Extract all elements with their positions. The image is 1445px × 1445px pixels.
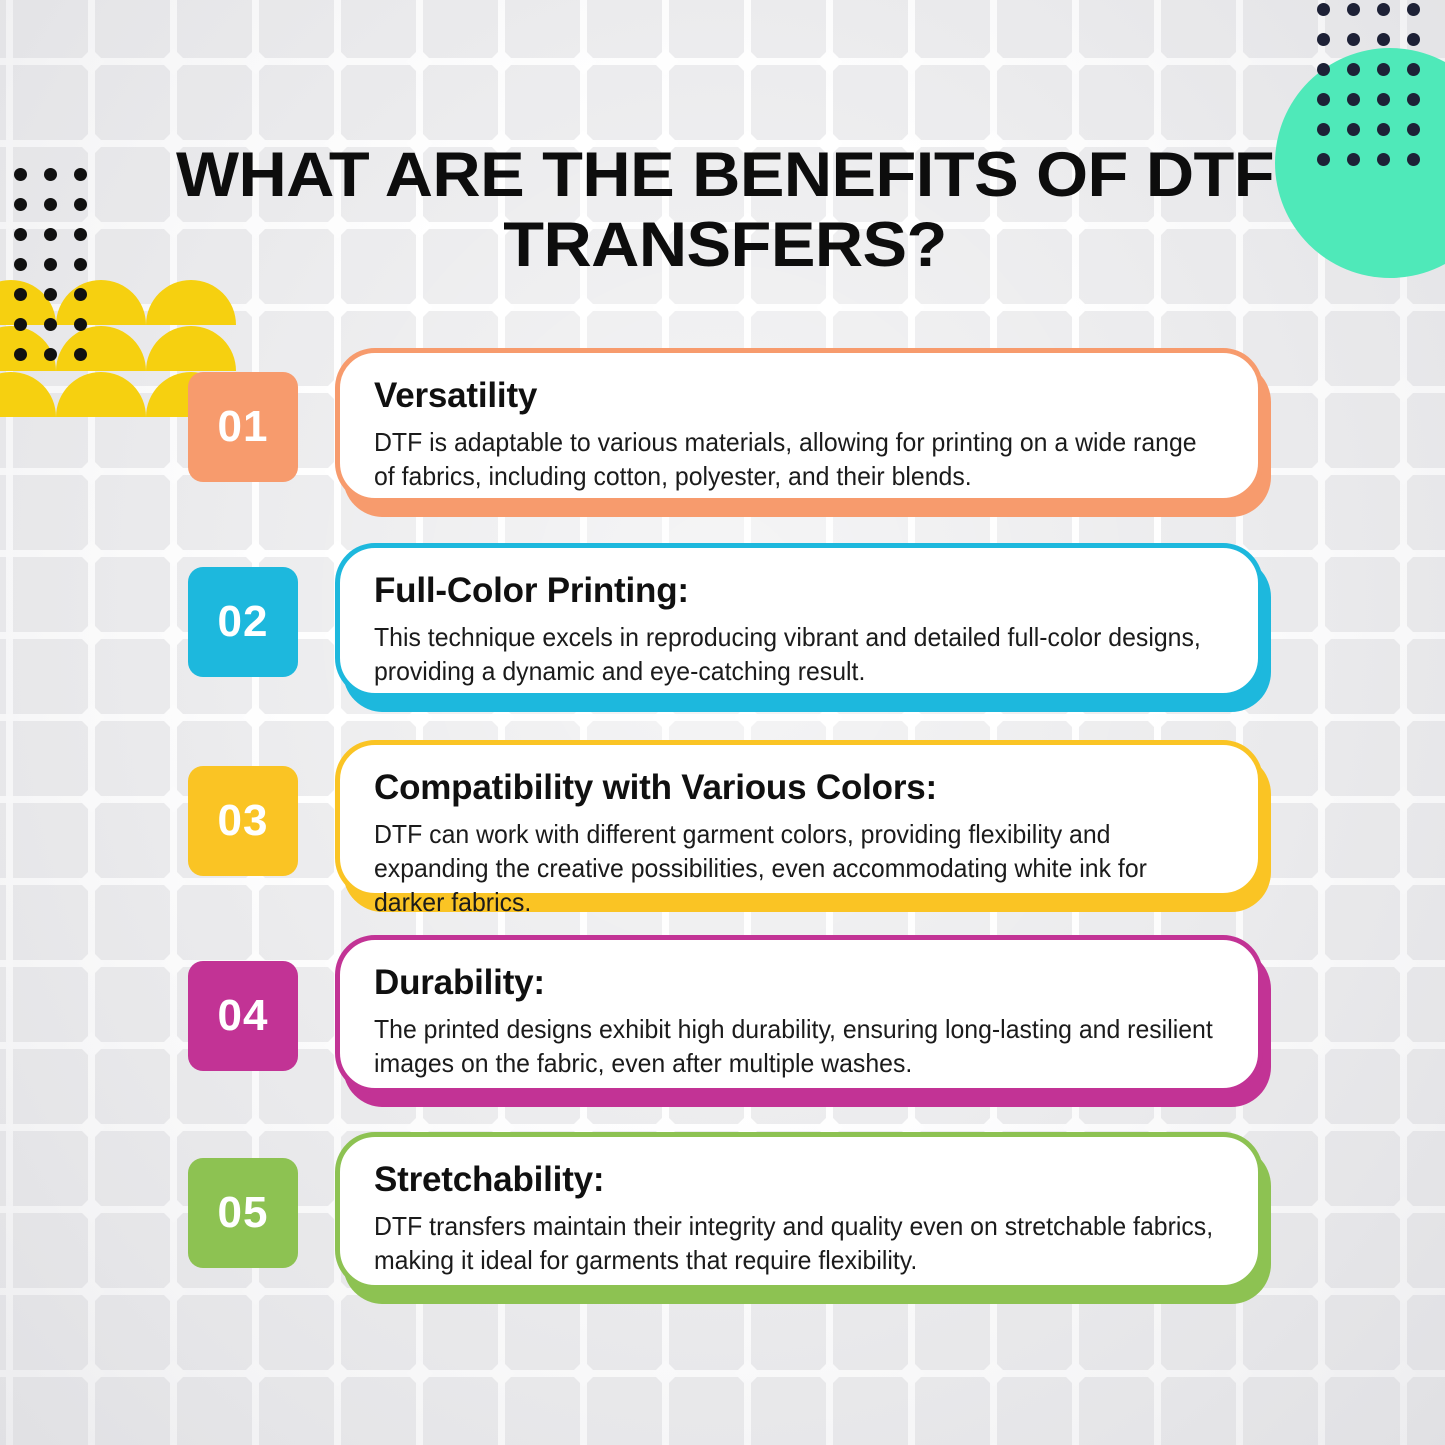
benefit-description: DTF is adaptable to various materials, a… [374, 425, 1224, 493]
benefit-number: 03 [218, 796, 269, 846]
decorative-dot [1347, 153, 1360, 166]
benefit-number: 02 [218, 597, 269, 647]
benefit-description: DTF transfers maintain their integrity a… [374, 1209, 1224, 1277]
decorative-dot [1377, 63, 1390, 76]
decorative-dot [74, 288, 87, 301]
benefit-card-wrapper: VersatilityDTF is adaptable to various m… [335, 348, 1263, 503]
benefit-title: Stretchability: [374, 1159, 1224, 1201]
benefit-number: 04 [218, 991, 269, 1041]
dot-grid-left [14, 168, 104, 388]
decorative-dot [1317, 33, 1330, 46]
decorative-dot [1347, 33, 1360, 46]
benefit-description: This technique excels in reproducing vib… [374, 620, 1224, 688]
benefit-card-wrapper: Compatibility with Various Colors:DTF ca… [335, 740, 1263, 898]
decorative-dot [1377, 33, 1390, 46]
benefit-title: Compatibility with Various Colors: [374, 767, 1224, 809]
decorative-dot [1317, 63, 1330, 76]
decorative-dot [44, 288, 57, 301]
decorative-dot [74, 258, 87, 271]
page-title: WHAT ARE THE BENEFITS OF DTF TRANSFERS? [126, 140, 1324, 280]
decorative-dot [1317, 123, 1330, 136]
decorative-dot [1377, 123, 1390, 136]
benefit-number: 05 [218, 1188, 269, 1238]
benefit-card-wrapper: Durability:The printed designs exhibit h… [335, 935, 1263, 1093]
decorative-dot [14, 258, 27, 271]
decorative-dot [1407, 153, 1420, 166]
benefit-card-wrapper: Stretchability:DTF transfers maintain th… [335, 1132, 1263, 1290]
benefit-number-badge: 01 [188, 372, 298, 482]
decorative-dot [1317, 3, 1330, 16]
decorative-dot [1347, 93, 1360, 106]
decorative-dot [14, 228, 27, 241]
decorative-dot [44, 198, 57, 211]
half-circle-shape [146, 280, 236, 325]
decorative-dot [1377, 153, 1390, 166]
benefit-card-wrapper: Full-Color Printing:This technique excel… [335, 543, 1263, 698]
benefit-card: Compatibility with Various Colors:DTF ca… [335, 740, 1263, 898]
benefit-number-badge: 02 [188, 567, 298, 677]
benefit-card: Durability:The printed designs exhibit h… [335, 935, 1263, 1093]
decorative-dot [14, 348, 27, 361]
decorative-dot [1407, 63, 1420, 76]
decorative-dot [44, 168, 57, 181]
half-circle-shape [146, 326, 236, 371]
decorative-dot [1407, 33, 1420, 46]
decorative-dot [44, 348, 57, 361]
benefit-title: Full-Color Printing: [374, 570, 1224, 612]
decorative-dot [1407, 123, 1420, 136]
decorative-dot [44, 318, 57, 331]
decorative-dot [1407, 93, 1420, 106]
decorative-dot [14, 318, 27, 331]
benefit-title: Durability: [374, 962, 1224, 1004]
benefit-title: Versatility [374, 375, 1224, 417]
decorative-dot [1407, 3, 1420, 16]
infographic-poster: WHAT ARE THE BENEFITS OF DTF TRANSFERS? … [0, 0, 1445, 1445]
decorative-dot [14, 168, 27, 181]
benefit-card: Stretchability:DTF transfers maintain th… [335, 1132, 1263, 1290]
decorative-dot [1317, 93, 1330, 106]
decorative-dot [1377, 93, 1390, 106]
decorative-dot [1347, 3, 1360, 16]
benefit-number-badge: 05 [188, 1158, 298, 1268]
dot-grid-top-right [1317, 0, 1445, 185]
decorative-dot [1347, 123, 1360, 136]
decorative-dot [14, 288, 27, 301]
decorative-dot [44, 258, 57, 271]
benefit-card: Full-Color Printing:This technique excel… [335, 543, 1263, 698]
decorative-dot [44, 228, 57, 241]
benefit-number-badge: 04 [188, 961, 298, 1071]
decorative-dot [74, 198, 87, 211]
benefit-card: VersatilityDTF is adaptable to various m… [335, 348, 1263, 503]
decorative-dot [74, 168, 87, 181]
benefit-number: 01 [218, 402, 269, 452]
decorative-dot [74, 348, 87, 361]
decorative-dot [74, 228, 87, 241]
decorative-dot [1347, 63, 1360, 76]
decorative-dot [74, 318, 87, 331]
benefit-number-badge: 03 [188, 766, 298, 876]
benefit-description: The printed designs exhibit high durabil… [374, 1012, 1224, 1080]
decorative-dot [14, 198, 27, 211]
benefit-description: DTF can work with different garment colo… [374, 817, 1224, 919]
decorative-dot [1377, 3, 1390, 16]
